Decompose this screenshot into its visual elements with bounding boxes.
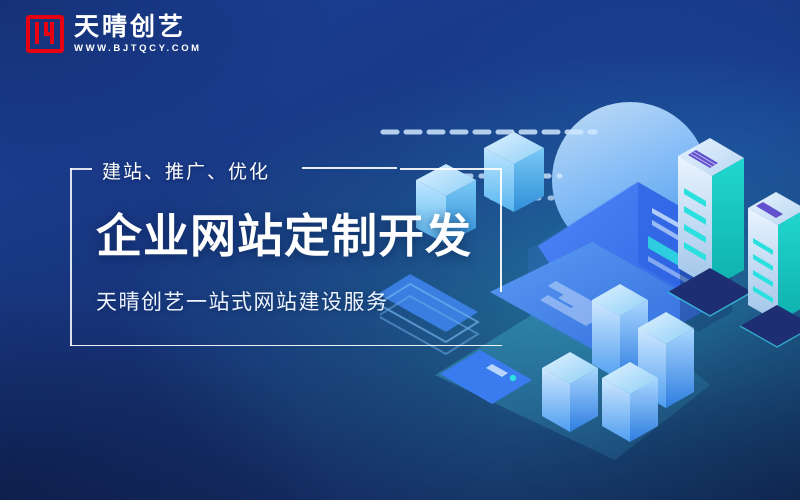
brand-logo[interactable]: 天晴创艺 WWW.BJTQCY.COM [26,14,202,54]
tagline: 建站、推广、优化 [102,157,270,184]
frame-bottom-border [70,345,502,347]
subtitle: 天晴创艺一站式网站建设服务 [96,286,389,316]
frame-left-top-tick [70,168,92,170]
brand-website: WWW.BJTQCY.COM [74,43,202,54]
server-rack-large-icon [668,138,752,332]
promotional-banner: 天晴创艺 WWW.BJTQCY.COM [0,0,800,500]
page-title: 企业网站定制开发 [96,200,472,266]
tagline-rule [302,167,397,169]
brand-name: 天晴创艺 [74,14,202,40]
server-rack-small-icon [740,192,800,347]
frame-right-border [500,168,502,292]
brand-logo-text: 天晴创艺 WWW.BJTQCY.COM [74,14,202,54]
tqcy-square-logo-icon [26,15,64,53]
frame-left-border [70,168,72,346]
frame-right-top-tick [400,168,501,170]
headline-block: 建站、推广、优化 企业网站定制开发 天晴创艺一站式网站建设服务 [70,168,510,346]
